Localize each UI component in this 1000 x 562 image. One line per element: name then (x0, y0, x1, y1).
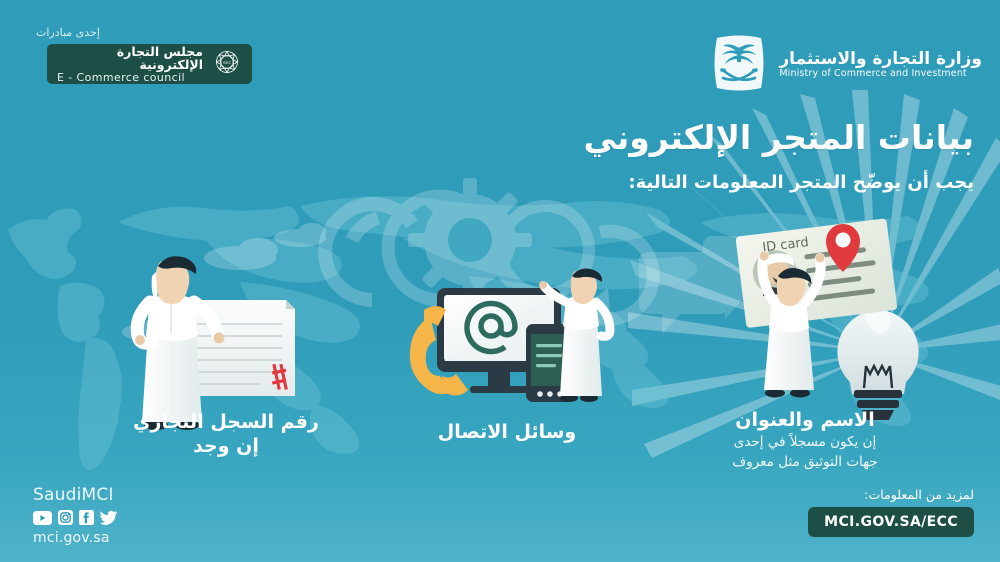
caption-note-line2: جهات التوثيق مثل معروف (640, 454, 970, 472)
infographic-canvas: ID card (0, 0, 1000, 562)
illustration-contact-methods (410, 268, 610, 402)
ecc-kicker-label: إحدى مبادرات (22, 26, 252, 39)
caption-heading: الاسم والعنوان (640, 408, 970, 432)
page-title: بيانات المتجر الإلكتروني (583, 118, 974, 157)
page-subtitle: يجب أن يوضّح المتجر المعلومات التالية: (628, 172, 974, 193)
ecc-badge[interactable]: ecc مجلس التجارة الإلكترونية E - Commerc… (47, 44, 252, 84)
social-icon-row[interactable] (33, 510, 117, 525)
caption-heading-line2: إن وجد (86, 434, 366, 458)
illustration-commercial-register (135, 256, 295, 430)
ministry-name-english: Ministry of Commerce and Investment (779, 69, 966, 80)
ecc-name-arabic: مجلس التجارة الإلكترونية (57, 45, 203, 72)
youtube-icon[interactable] (33, 511, 52, 525)
website-url[interactable]: mci.gov.sa (33, 530, 117, 546)
ecc-logo-block[interactable]: إحدى مبادرات ecc (22, 26, 252, 84)
caption-contact-methods: وسائل الاتصال (392, 420, 622, 444)
instagram-icon[interactable] (58, 510, 73, 525)
caption-commercial-register: رقم السجل التجاري إن وجد (86, 410, 366, 459)
more-info-label: لمزيد من المعلومات: (808, 487, 974, 502)
caption-heading: رقم السجل التجاري (86, 410, 366, 434)
social-block: SaudiMCI (33, 485, 117, 546)
ecc-name-english: E - Commerce council (57, 72, 203, 84)
saudi-palm-swords-emblem-icon (711, 32, 767, 98)
cta-url-button[interactable]: MCI.GOV.SA/ECC (808, 507, 974, 537)
svg-text:ecc: ecc (223, 61, 231, 66)
ministry-name-arabic: وزارة التجارة والاستثمار (779, 50, 982, 70)
ministry-logo-block[interactable]: وزارة التجارة والاستثمار Ministry of Com… (711, 32, 982, 98)
facebook-icon[interactable] (79, 510, 94, 525)
caption-heading: وسائل الاتصال (392, 420, 622, 444)
social-handle: SaudiMCI (33, 485, 117, 505)
cta-block: لمزيد من المعلومات: MCI.GOV.SA/ECC (808, 487, 974, 537)
twitter-icon[interactable] (100, 510, 117, 525)
caption-name-and-address: الاسم والعنوان إن يكون مسجلاً في إحدى جه… (640, 408, 970, 472)
caption-note-line1: إن يكون مسجلاً في إحدى (640, 434, 970, 452)
rosette-emblem-icon: ecc (212, 47, 242, 81)
